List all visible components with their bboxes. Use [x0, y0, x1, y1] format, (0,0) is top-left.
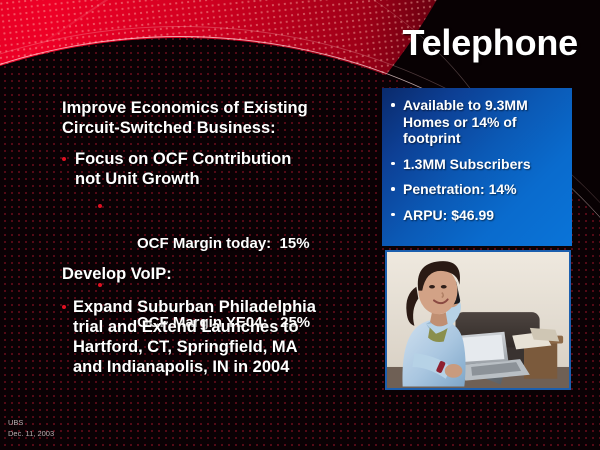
metric-item: ARPU: $46.99 [390, 207, 564, 224]
section1-heading: Improve Economics of Existing Circuit-Sw… [62, 98, 372, 138]
section2-bullet-label: Expand Suburban Philadelphia trial and E… [73, 298, 316, 375]
slide-title: Telephone [402, 22, 578, 64]
footer-source: UBS [8, 417, 54, 429]
customer-photo [385, 250, 571, 390]
bullet-dot-icon [391, 213, 395, 217]
section1-sub-bullet: OCF Margin today: 15% [98, 198, 372, 273]
metric-item: Available to 9.3MM Homes or 14% of footp… [390, 97, 564, 147]
section1-bullet: Focus on OCF Contribution not Unit Growt… [62, 150, 372, 190]
section1-sub-bullet-label: OCF Margin today: 15% [137, 235, 310, 252]
footer-date: Dec. 11, 2003 [8, 428, 54, 440]
metric-item: Penetration: 14% [390, 181, 564, 198]
metric-item: 1.3MM Subscribers [390, 156, 564, 173]
bullet-dot-icon [391, 187, 395, 191]
left-content-column-secondary: Develop VoIP: Expand Suburban Philadelph… [62, 264, 382, 385]
section2-heading: Develop VoIP: [62, 264, 382, 284]
bullet-dot-icon [391, 162, 395, 166]
photo-illustration [387, 252, 569, 388]
metrics-callout-box: Available to 9.3MM Homes or 14% of footp… [382, 88, 572, 246]
metric-label: Penetration: 14% [403, 181, 517, 197]
bullet-dot-icon [62, 305, 66, 309]
metric-label: Available to 9.3MM Homes or 14% of footp… [403, 97, 528, 146]
section2-bullet: Expand Suburban Philadelphia trial and E… [62, 298, 382, 377]
metric-label: 1.3MM Subscribers [403, 156, 531, 172]
slide-footer: UBS Dec. 11, 2003 [8, 417, 54, 440]
presentation-slide: Telephone Improve Economics of Existing … [0, 0, 600, 450]
metric-label: ARPU: $46.99 [403, 207, 494, 223]
section1-bullet-label: Focus on OCF Contribution not Unit Growt… [75, 150, 291, 188]
bullet-dot-icon [391, 103, 395, 107]
bullet-dot-icon [62, 157, 66, 161]
bullet-dot-icon [98, 204, 102, 208]
